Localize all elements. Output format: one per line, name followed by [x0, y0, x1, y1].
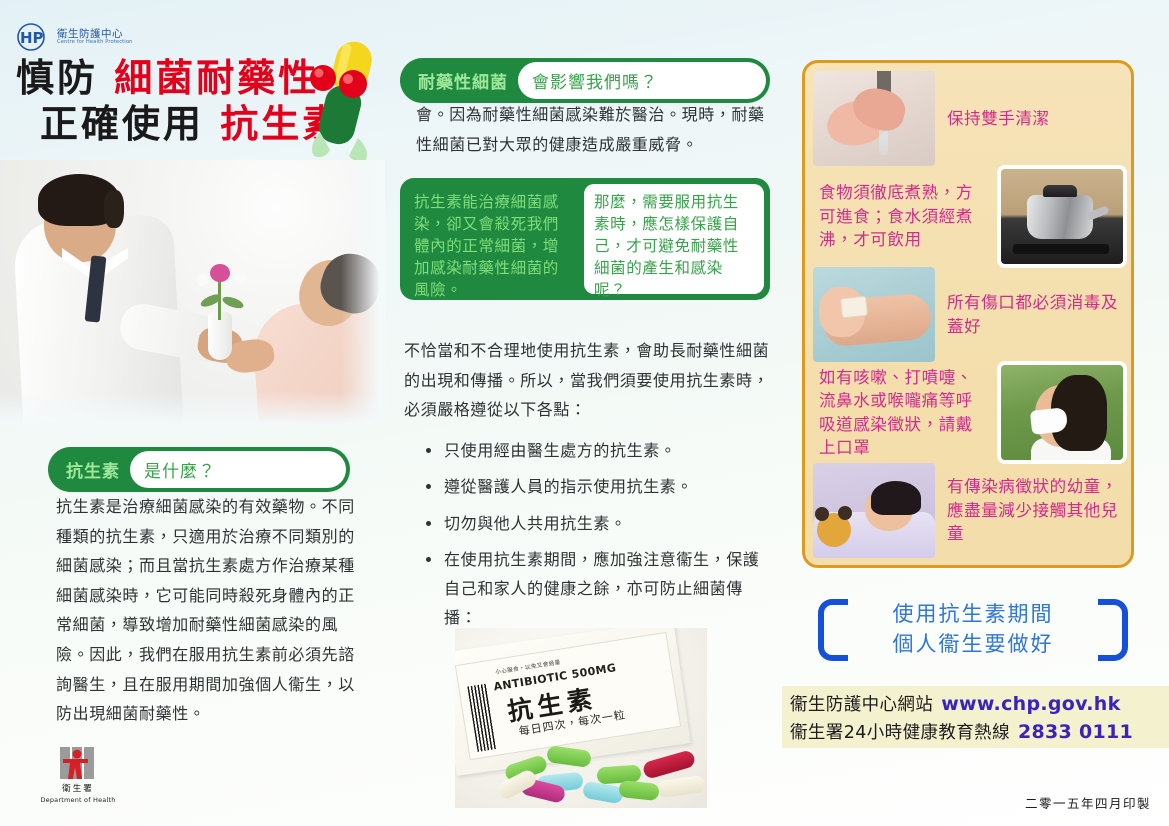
- question-pill-text: 會影響我們嗎？: [518, 62, 766, 99]
- child-hair-shape: [871, 481, 921, 515]
- hygiene-tips-panel: 保持雙手清潔 食物須徹底煮熟，方可進食；食水須經煮沸，才可飲用 所有傷口都必須消…: [802, 60, 1134, 568]
- capsule-white: [656, 775, 706, 799]
- bracket-right-icon: [1098, 599, 1128, 661]
- boiling-kettle-icon: [1001, 169, 1123, 264]
- capsule-mascot-icon: [296, 34, 388, 164]
- website-url[interactable]: www.chp.gov.hk: [941, 693, 1120, 715]
- contact-website-line: 衞生防護中心網站 www.chp.gov.hk: [790, 691, 1163, 716]
- green-info-box: 抗生素能治療細菌感染，卻又會殺死我們體內的正常細菌，增加感染耐藥性細菌的風險。 …: [400, 178, 770, 300]
- title-line-1-red: 細菌耐藥性: [114, 56, 319, 100]
- hygiene-tip-row: 保持雙手清潔: [813, 71, 1123, 166]
- hygiene-tip-row: 食物須徹底煮熟，方可進食；食水須經煮沸，才可飲用: [813, 169, 1123, 264]
- prescription-photo: 小心服食，以免又會過量 ANTIBIOTIC 500MG 抗生素 每日四次，每次…: [455, 628, 707, 808]
- hotline-label: 衞生署24小時健康教育熱線: [790, 719, 1010, 744]
- contact-information-band: 衞生防護中心網站 www.chp.gov.hk 衞生署24小時健康教育熱線 28…: [782, 686, 1169, 748]
- capsule-crimson: [642, 749, 697, 780]
- dh-name-en: Department of Health: [40, 796, 115, 804]
- question-pill-what-is-antibiotic: 抗生素 是什麼？: [48, 447, 350, 492]
- bandage-shape: [840, 296, 868, 319]
- department-of-health-icon: [58, 746, 98, 780]
- capsule-green: [618, 780, 660, 801]
- chp-logo: HP 衛生防護中心 Centre for Health Protection: [16, 18, 176, 56]
- slogan-text: 使用抗生素期間 個人衞生要做好: [848, 600, 1098, 660]
- faucet-shape: [877, 71, 891, 101]
- hygiene-tip-text: 保持雙手清潔: [943, 107, 1123, 130]
- paragraph-misuse: 不恰當和不合理地使用抗生素，會助長耐藥性細菌的出現和傳播。所以，當我們須要使用抗…: [404, 336, 770, 425]
- chp-logo-icon: HP: [16, 20, 52, 54]
- hygiene-tip-text: 食物須徹底煮熟，方可進食；食水須經煮沸，才可飲用: [813, 181, 993, 251]
- toy-shape: [817, 513, 851, 547]
- barcode-icon: [467, 684, 497, 752]
- bracket-left-icon: [818, 599, 848, 661]
- antibiotic-rules-list: 只使用經由醫生處方的抗生素。 遵從醫護人員的指示使用抗生素。 切勿與他人共用抗生…: [424, 436, 764, 640]
- title-line-2-black: 正確使用: [40, 102, 220, 146]
- chp-name-en: Centre for Health Protection: [57, 40, 133, 45]
- washing-hands-icon: [813, 71, 935, 166]
- hygiene-tip-text: 所有傷口都必須消毒及蓋好: [943, 291, 1123, 338]
- contact-hotline-line: 衞生署24小時健康教育熱線 2833 0111: [790, 719, 1163, 744]
- website-label: 衞生防護中心網站: [790, 691, 933, 716]
- department-of-health-logo: 衛生署 Department of Health: [30, 746, 126, 808]
- question-pill-tag: 耐藥性細菌: [404, 62, 518, 99]
- hygiene-tip-row: 有傳染病徵狀的幼童，應盡量減少接觸其他兒童: [813, 463, 1123, 558]
- hygiene-tip-row: 所有傷口都必須消毒及蓋好: [813, 267, 1123, 362]
- doctor-patient-photo: [0, 160, 385, 425]
- photo-fade-bottom: [0, 391, 385, 425]
- woman-wearing-mask-icon: [1001, 365, 1123, 460]
- list-item: 遵從醫護人員的指示使用抗生素。: [424, 472, 764, 501]
- kettle-body-shape: [1027, 195, 1093, 239]
- kettle-lid-shape: [1043, 185, 1077, 197]
- hotline-number[interactable]: 2833 0111: [1018, 721, 1133, 743]
- poster-canvas: HP 衛生防護中心 Centre for Health Protection 慎…: [0, 0, 1169, 826]
- hygiene-tip-text: 如有咳嗽、打噴嚏、流鼻水或喉嚨痛等呼吸道感染徵狀，請戴上口罩: [813, 366, 993, 460]
- capsule-green: [546, 745, 592, 768]
- water-stream-shape: [879, 93, 888, 155]
- title-line-1-black: 慎防: [16, 56, 114, 100]
- slogan-block: 使用抗生素期間 個人衞生要做好: [818, 592, 1128, 668]
- flower-pink-shape: [210, 264, 230, 282]
- question-pill-tag: 抗生素: [52, 451, 130, 488]
- svg-text:HP: HP: [20, 29, 44, 47]
- paragraph-definition: 抗生素是治療細菌感染的有效藥物。不同種類的抗生素，只適用於治療不同類別的細菌感染…: [56, 492, 356, 729]
- doctor-hair-shape: [38, 174, 120, 226]
- hygiene-tip-row: 如有咳嗽、打噴嚏、流鼻水或喉嚨痛等呼吸道感染徵狀，請戴上口罩: [813, 365, 1123, 460]
- capsules-group: [501, 742, 707, 804]
- green-box-left-text: 抗生素能治療細菌感染，卻又會殺死我們體內的正常細菌，增加感染耐藥性細菌的風險。: [406, 184, 578, 294]
- list-item: 切勿與他人共用抗生素。: [424, 509, 764, 538]
- flower-white-left: [196, 274, 209, 286]
- print-date: 二零一五年四月印製: [1025, 793, 1151, 812]
- green-box-right-text: 那麼，需要服用抗生素時，應怎樣保護自己，才可避免耐藥性細菌的產生和感染呢？: [584, 184, 764, 294]
- photo-fade-right: [341, 160, 385, 425]
- question-pill-text: 是什麼？: [130, 451, 346, 488]
- flower-white-right: [234, 272, 247, 284]
- capsule-cyan: [582, 781, 624, 805]
- dh-name-cn: 衛生署: [62, 782, 94, 794]
- slogan-line-1: 使用抗生素期間: [893, 602, 1054, 626]
- stove-shape: [1013, 244, 1109, 254]
- sick-child-resting-icon: [813, 463, 935, 558]
- list-item: 只使用經由醫生處方的抗生素。: [424, 436, 764, 465]
- list-item: 在使用抗生素期間，應加強注意衞生，保護自己和家人的健康之餘，亦可防止細菌傳播：: [424, 545, 764, 633]
- question-pill-resistant-bacteria: 耐藥性細菌 會影響我們嗎？: [400, 58, 770, 103]
- slogan-line-2: 個人衞生要做好: [893, 632, 1054, 656]
- bandaged-wound-icon: [813, 267, 935, 362]
- hygiene-tip-text: 有傳染病徵狀的幼童，應盡量減少接觸其他兒童: [943, 475, 1123, 545]
- paragraph-answer: 會。因為耐藥性細菌感染難於醫治。現時，耐藥性細菌已對大眾的健康造成嚴重威脅。: [416, 100, 768, 159]
